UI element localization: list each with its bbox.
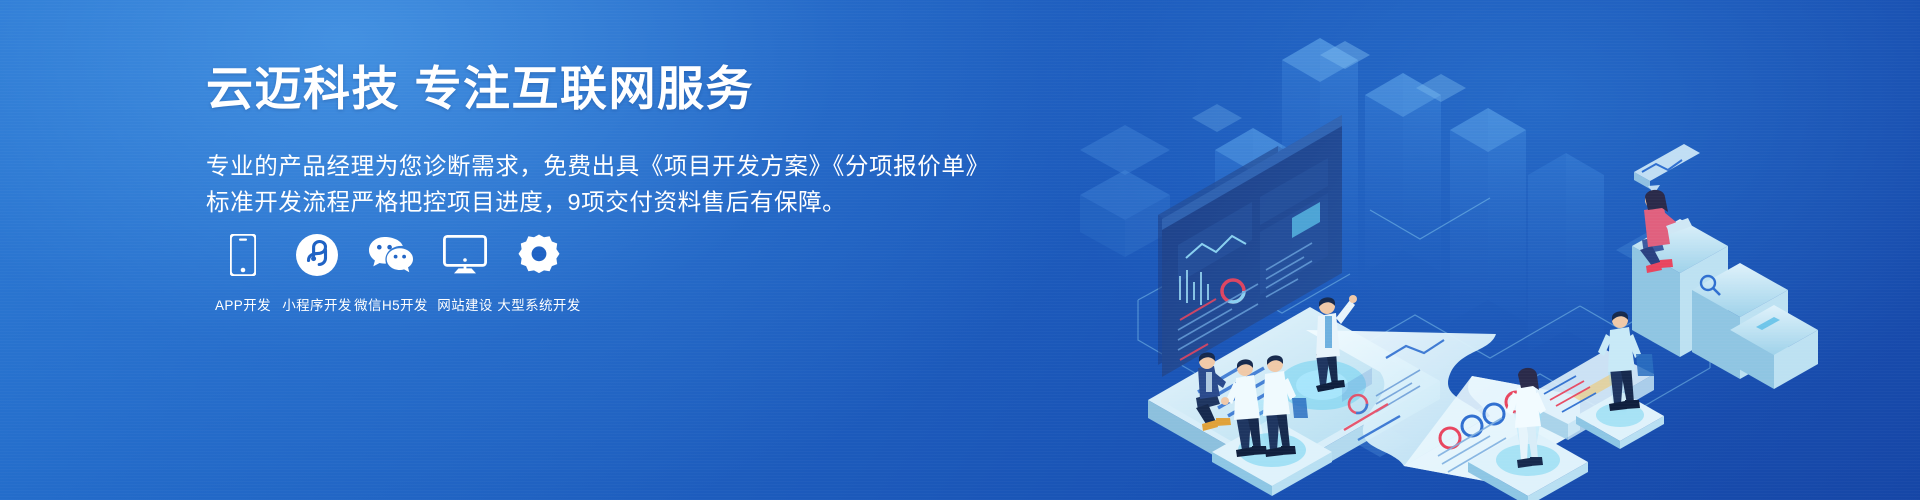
mobile-phone-icon xyxy=(230,232,256,278)
hero-subtitle: 专业的产品经理为您诊断需求，免费出具《项目开发方案》《分项报价单》 标准开发流程… xyxy=(206,148,926,220)
wechat-icon xyxy=(368,232,414,278)
page-title: 云迈科技 专注互联网服务 xyxy=(206,62,926,116)
mini-program-icon xyxy=(296,232,338,278)
service-item-wechat-h5[interactable]: 微信H5开发 xyxy=(354,232,428,314)
hero-copy: 云迈科技 专注互联网服务 专业的产品经理为您诊断需求，免费出具《项目开发方案》《… xyxy=(206,62,926,220)
service-item-app[interactable]: APP开发 xyxy=(206,232,280,314)
service-label: APP开发 xyxy=(215,294,271,314)
isometric-data-platform-illustration xyxy=(1020,0,1920,500)
service-label: 大型系统开发 xyxy=(497,294,580,314)
service-item-mini-program[interactable]: 小程序开发 xyxy=(280,232,354,314)
subtitle-line-2: 标准开发流程严格把控项目进度，9项交付资料售后有保障。 xyxy=(206,184,926,220)
service-item-large-system[interactable]: 大型系统开发 xyxy=(502,232,576,314)
service-label: 小程序开发 xyxy=(282,294,352,314)
service-list: APP开发 小程序开发 xyxy=(206,232,576,314)
subtitle-line-1: 专业的产品经理为您诊断需求，免费出具《项目开发方案》《分项报价单》 xyxy=(206,148,926,184)
monitor-icon xyxy=(443,232,487,278)
service-label: 微信H5开发 xyxy=(354,294,428,314)
gear-icon xyxy=(518,232,560,278)
hero-banner: 云迈科技 专注互联网服务 专业的产品经理为您诊断需求，免费出具《项目开发方案》《… xyxy=(0,0,1920,500)
service-label: 网站建设 xyxy=(437,294,493,314)
service-item-website[interactable]: 网站建设 xyxy=(428,232,502,314)
